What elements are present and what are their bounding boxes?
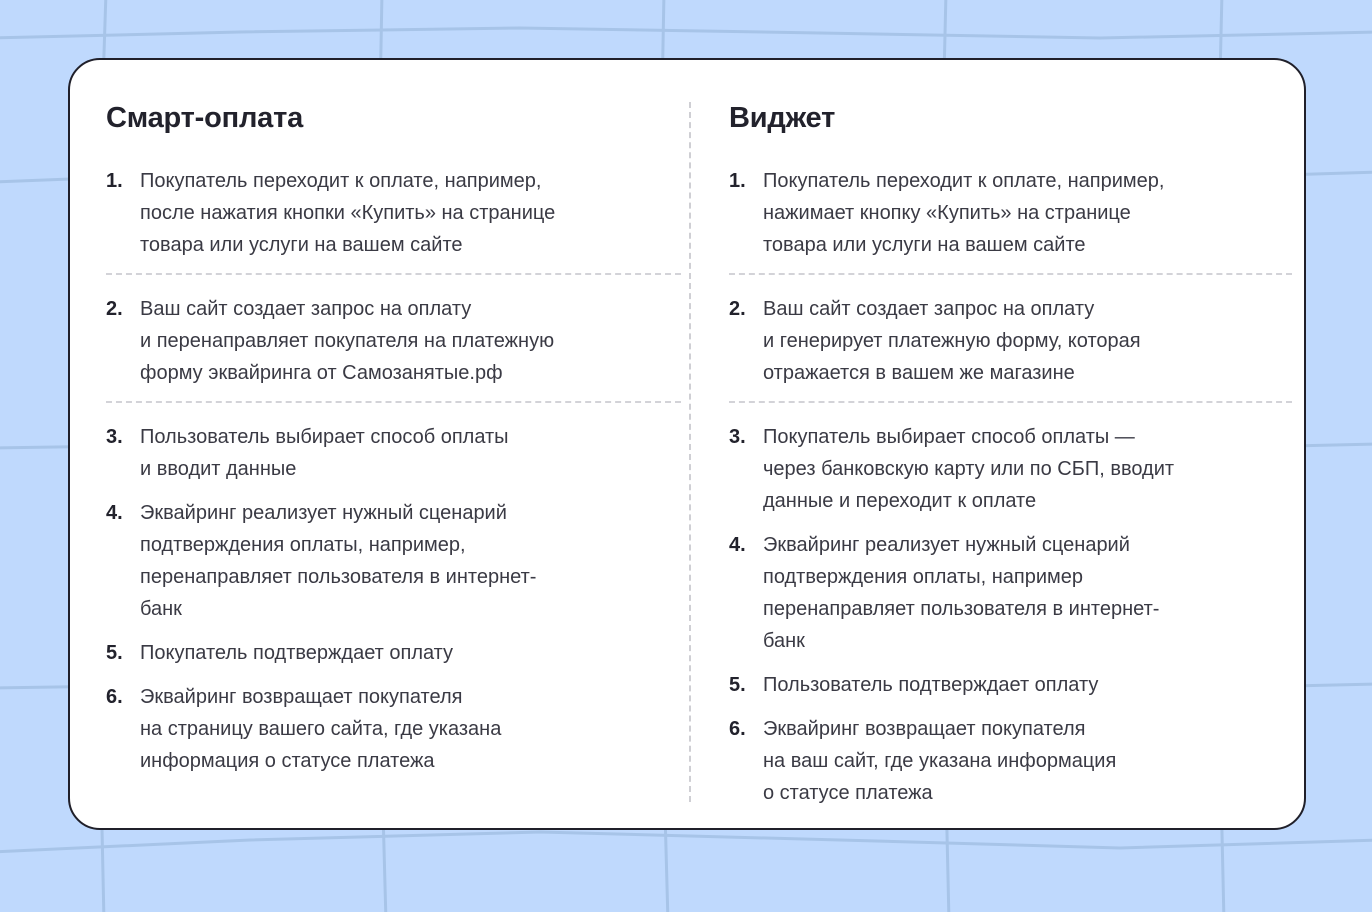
list-item: 3. Покупатель выбирает способ оплаты — ч… xyxy=(729,421,1274,517)
step-group: 3. Покупатель выбирает способ оплаты — ч… xyxy=(729,403,1274,809)
step-text: Ваш сайт создает запрос на оплату и пере… xyxy=(140,293,554,389)
step-number: 6. xyxy=(106,681,140,713)
step-text: Эквайринг возвращает покупателя на стран… xyxy=(140,681,501,777)
card-content: Смарт-оплата 1. Покупатель переходит к о… xyxy=(70,60,1304,828)
step-number: 2. xyxy=(106,293,140,325)
step-text: Покупатель выбирает способ оплаты — чере… xyxy=(763,421,1174,517)
steps-list: 1. Покупатель переходит к оплате, наприм… xyxy=(729,165,1274,261)
step-number: 1. xyxy=(729,165,763,197)
column-title-smart-payment: Смарт-оплата xyxy=(106,102,663,135)
step-text: Пользователь подтверждает оплату xyxy=(763,669,1098,701)
step-text: Покупатель переходит к оплате, например,… xyxy=(763,165,1164,261)
list-item: 2. Ваш сайт создает запрос на оплату и г… xyxy=(729,293,1274,389)
step-text: Эквайринг реализует нужный сценарий подт… xyxy=(763,529,1159,657)
step-number: 3. xyxy=(729,421,763,453)
step-number: 5. xyxy=(106,637,140,669)
list-item: 4. Эквайринг реализует нужный сценарий п… xyxy=(729,529,1274,657)
list-item: 6. Эквайринг возвращает покупателя на ва… xyxy=(729,713,1274,809)
list-item: 5. Покупатель подтверждает оплату xyxy=(106,637,663,669)
list-item: 3. Пользователь выбирает способ оплаты и… xyxy=(106,421,663,485)
steps-list: 3. Пользователь выбирает способ оплаты и… xyxy=(106,421,663,777)
step-number: 2. xyxy=(729,293,763,325)
steps-list: 3. Покупатель выбирает способ оплаты — ч… xyxy=(729,421,1274,809)
step-text: Пользователь выбирает способ оплаты и вв… xyxy=(140,421,509,485)
step-text: Покупатель подтверждает оплату xyxy=(140,637,453,669)
step-text: Ваш сайт создает запрос на оплату и гене… xyxy=(763,293,1141,389)
column-title-widget: Виджет xyxy=(729,102,1274,135)
steps-list: 1. Покупатель переходит к оплате, наприм… xyxy=(106,165,663,261)
column-smart-payment: Смарт-оплата 1. Покупатель переходит к о… xyxy=(70,60,687,828)
step-text: Эквайринг возвращает покупателя на ваш с… xyxy=(763,713,1116,809)
step-group: 3. Пользователь выбирает способ оплаты и… xyxy=(106,403,663,777)
list-item: 1. Покупатель переходит к оплате, наприм… xyxy=(106,165,663,261)
steps-list: 2. Ваш сайт создает запрос на оплату и г… xyxy=(729,293,1274,389)
step-number: 4. xyxy=(106,497,140,529)
step-number: 3. xyxy=(106,421,140,453)
steps-list: 2. Ваш сайт создает запрос на оплату и п… xyxy=(106,293,663,389)
list-item: 2. Ваш сайт создает запрос на оплату и п… xyxy=(106,293,663,389)
step-group: 2. Ваш сайт создает запрос на оплату и п… xyxy=(106,275,663,403)
step-group: 1. Покупатель переходит к оплате, наприм… xyxy=(106,165,663,275)
columns-container: Смарт-оплата 1. Покупатель переходит к о… xyxy=(70,60,1304,828)
step-group: 1. Покупатель переходит к оплате, наприм… xyxy=(729,165,1274,275)
step-group: 2. Ваш сайт создает запрос на оплату и г… xyxy=(729,275,1274,403)
step-text: Покупатель переходит к оплате, например,… xyxy=(140,165,555,261)
list-item: 4. Эквайринг реализует нужный сценарий п… xyxy=(106,497,663,625)
step-text: Эквайринг реализует нужный сценарий подт… xyxy=(140,497,536,625)
column-widget: Виджет 1. Покупатель переходит к оплате,… xyxy=(687,60,1304,828)
list-item: 6. Эквайринг возвращает покупателя на ст… xyxy=(106,681,663,777)
list-item: 5. Пользователь подтверждает оплату xyxy=(729,669,1274,701)
step-number: 5. xyxy=(729,669,763,701)
step-number: 1. xyxy=(106,165,140,197)
list-item: 1. Покупатель переходит к оплате, наприм… xyxy=(729,165,1274,261)
comparison-card: Смарт-оплата 1. Покупатель переходит к о… xyxy=(68,58,1306,830)
step-number: 6. xyxy=(729,713,763,745)
step-number: 4. xyxy=(729,529,763,561)
